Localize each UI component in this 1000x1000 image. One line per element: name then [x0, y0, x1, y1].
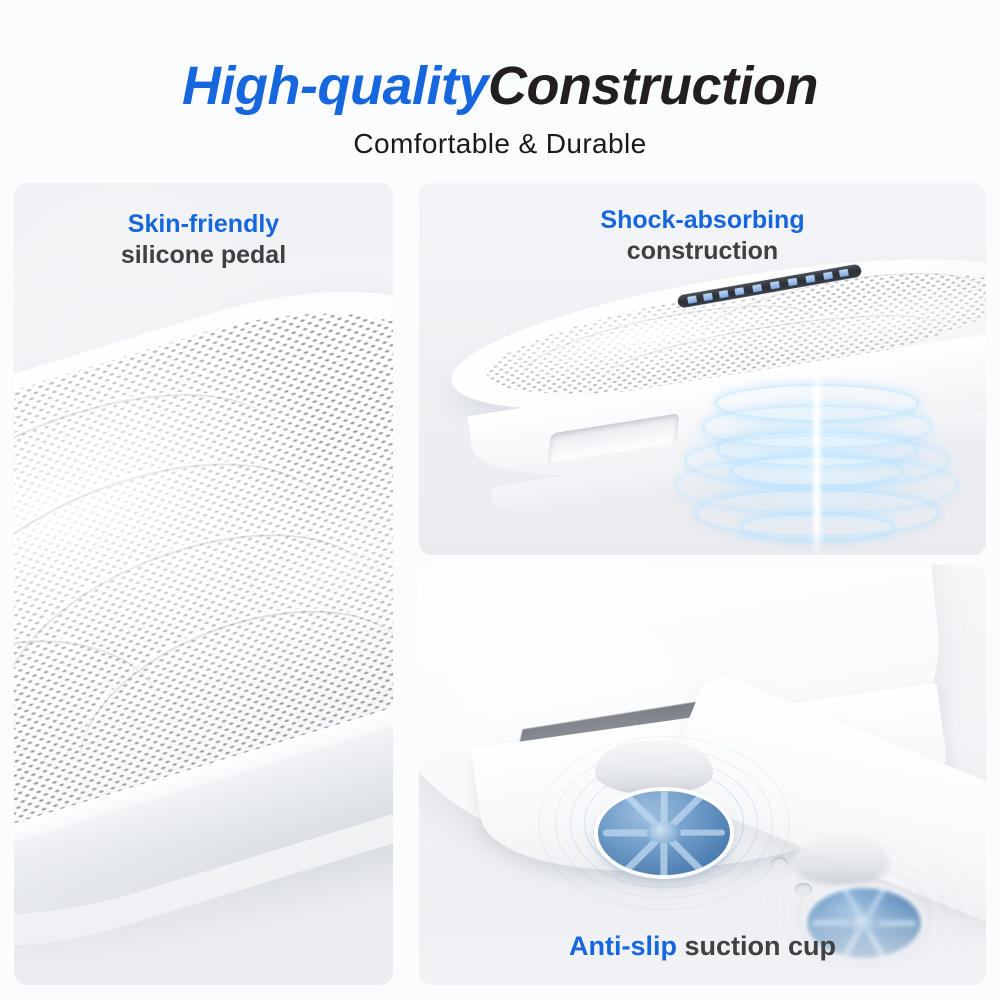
vibration-plate-machine: [442, 229, 986, 530]
panel-skin-friendly-pedal: Skin-friendly silicone pedal: [14, 183, 393, 985]
silicone-pedal-slab: [14, 240, 393, 985]
panel-anti-slip-suction-cup: Anti-slip suction cup: [419, 565, 986, 985]
panel-shock-absorbing: Shock-absorbing construction: [419, 183, 986, 555]
page-title: High-qualityConstruction: [182, 58, 818, 115]
suction-cup-disc: [807, 888, 921, 958]
infographic-page: High-qualityConstruction Comfortable & D…: [0, 0, 1000, 1000]
suction-cup-rear: [749, 835, 979, 985]
suction-cup-hub: [647, 822, 681, 844]
suction-cup-stem: [793, 835, 889, 885]
header: High-qualityConstruction Comfortable & D…: [0, 0, 1000, 183]
ripple-ring: [695, 489, 939, 537]
suction-cup-stem: [595, 741, 713, 795]
suction-cup-disc: [598, 791, 730, 875]
ripple-ring: [740, 513, 894, 541]
pedal-photo: [14, 183, 393, 985]
title-accent-text: High-quality: [182, 56, 488, 116]
title-dark-text: Construction: [488, 56, 818, 116]
suction-cup-hub: [849, 914, 879, 932]
page-subtitle: Comfortable & Durable: [353, 128, 646, 160]
suction-cup-photo: [419, 565, 986, 985]
machine-photo: [419, 183, 986, 555]
